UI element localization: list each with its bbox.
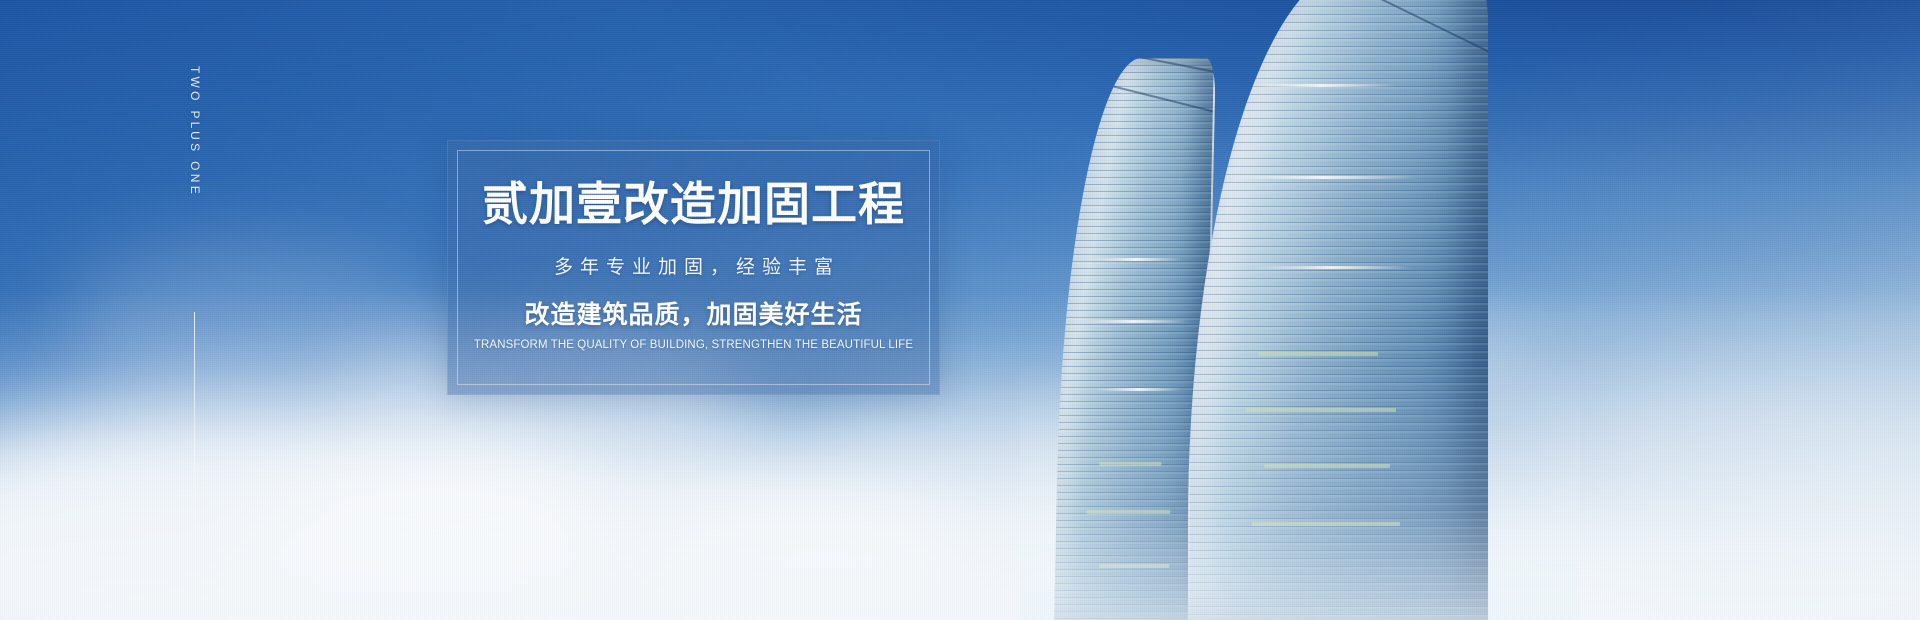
tower-lit-floor — [1264, 464, 1390, 468]
hero-title: 贰加壹改造加固工程 — [482, 181, 905, 227]
horizon-haze — [0, 290, 1920, 620]
skyscraper-towers-image — [1020, 0, 1580, 620]
tower-window-glint — [1246, 84, 1396, 87]
hero-english-tagline: TRANSFORM THE QUALITY OF BUILDING, STREN… — [474, 340, 913, 352]
tower-window-glint — [1095, 388, 1181, 391]
tower-lit-floor — [1099, 564, 1169, 568]
hero-banner: T W O P L U S O N E 贰加壹改造加固工程 多年专业加固，经验丰… — [0, 0, 1920, 620]
tower-right — [1188, 0, 1488, 620]
tower-window-glint — [1078, 320, 1188, 323]
tower-lit-floor — [1252, 522, 1400, 526]
vertical-brand-text: T W O P L U S O N E — [178, 66, 212, 199]
tower-window-glint — [1252, 266, 1412, 269]
hero-subtitle: 多年专业加固，经验丰富 — [547, 258, 840, 277]
vertical-divider-line — [194, 312, 195, 612]
tower-window-glint — [1090, 258, 1182, 261]
tower-lit-floor — [1246, 408, 1396, 412]
tower-structural-lines — [1188, 0, 1488, 620]
tower-lit-floor — [1086, 510, 1170, 514]
hero-panel-content: 贰加壹改造加固工程 多年专业加固，经验丰富 改造建筑品质，加固美好生活 TRAN… — [448, 141, 939, 394]
hero-text-panel: 贰加壹改造加固工程 多年专业加固，经验丰富 改造建筑品质，加固美好生活 TRAN… — [447, 140, 940, 395]
tower-window-glint — [1228, 176, 1418, 179]
tower-edge-highlight — [1188, 0, 1190, 620]
vertical-brand-label: T W O P L U S O N E — [181, 66, 209, 194]
cloud-layer — [0, 0, 1920, 620]
tower-lit-floor — [1258, 352, 1378, 356]
hero-tagline: 改造建筑品质，加固美好生活 — [524, 303, 862, 328]
tower-lit-floor — [1099, 462, 1161, 466]
